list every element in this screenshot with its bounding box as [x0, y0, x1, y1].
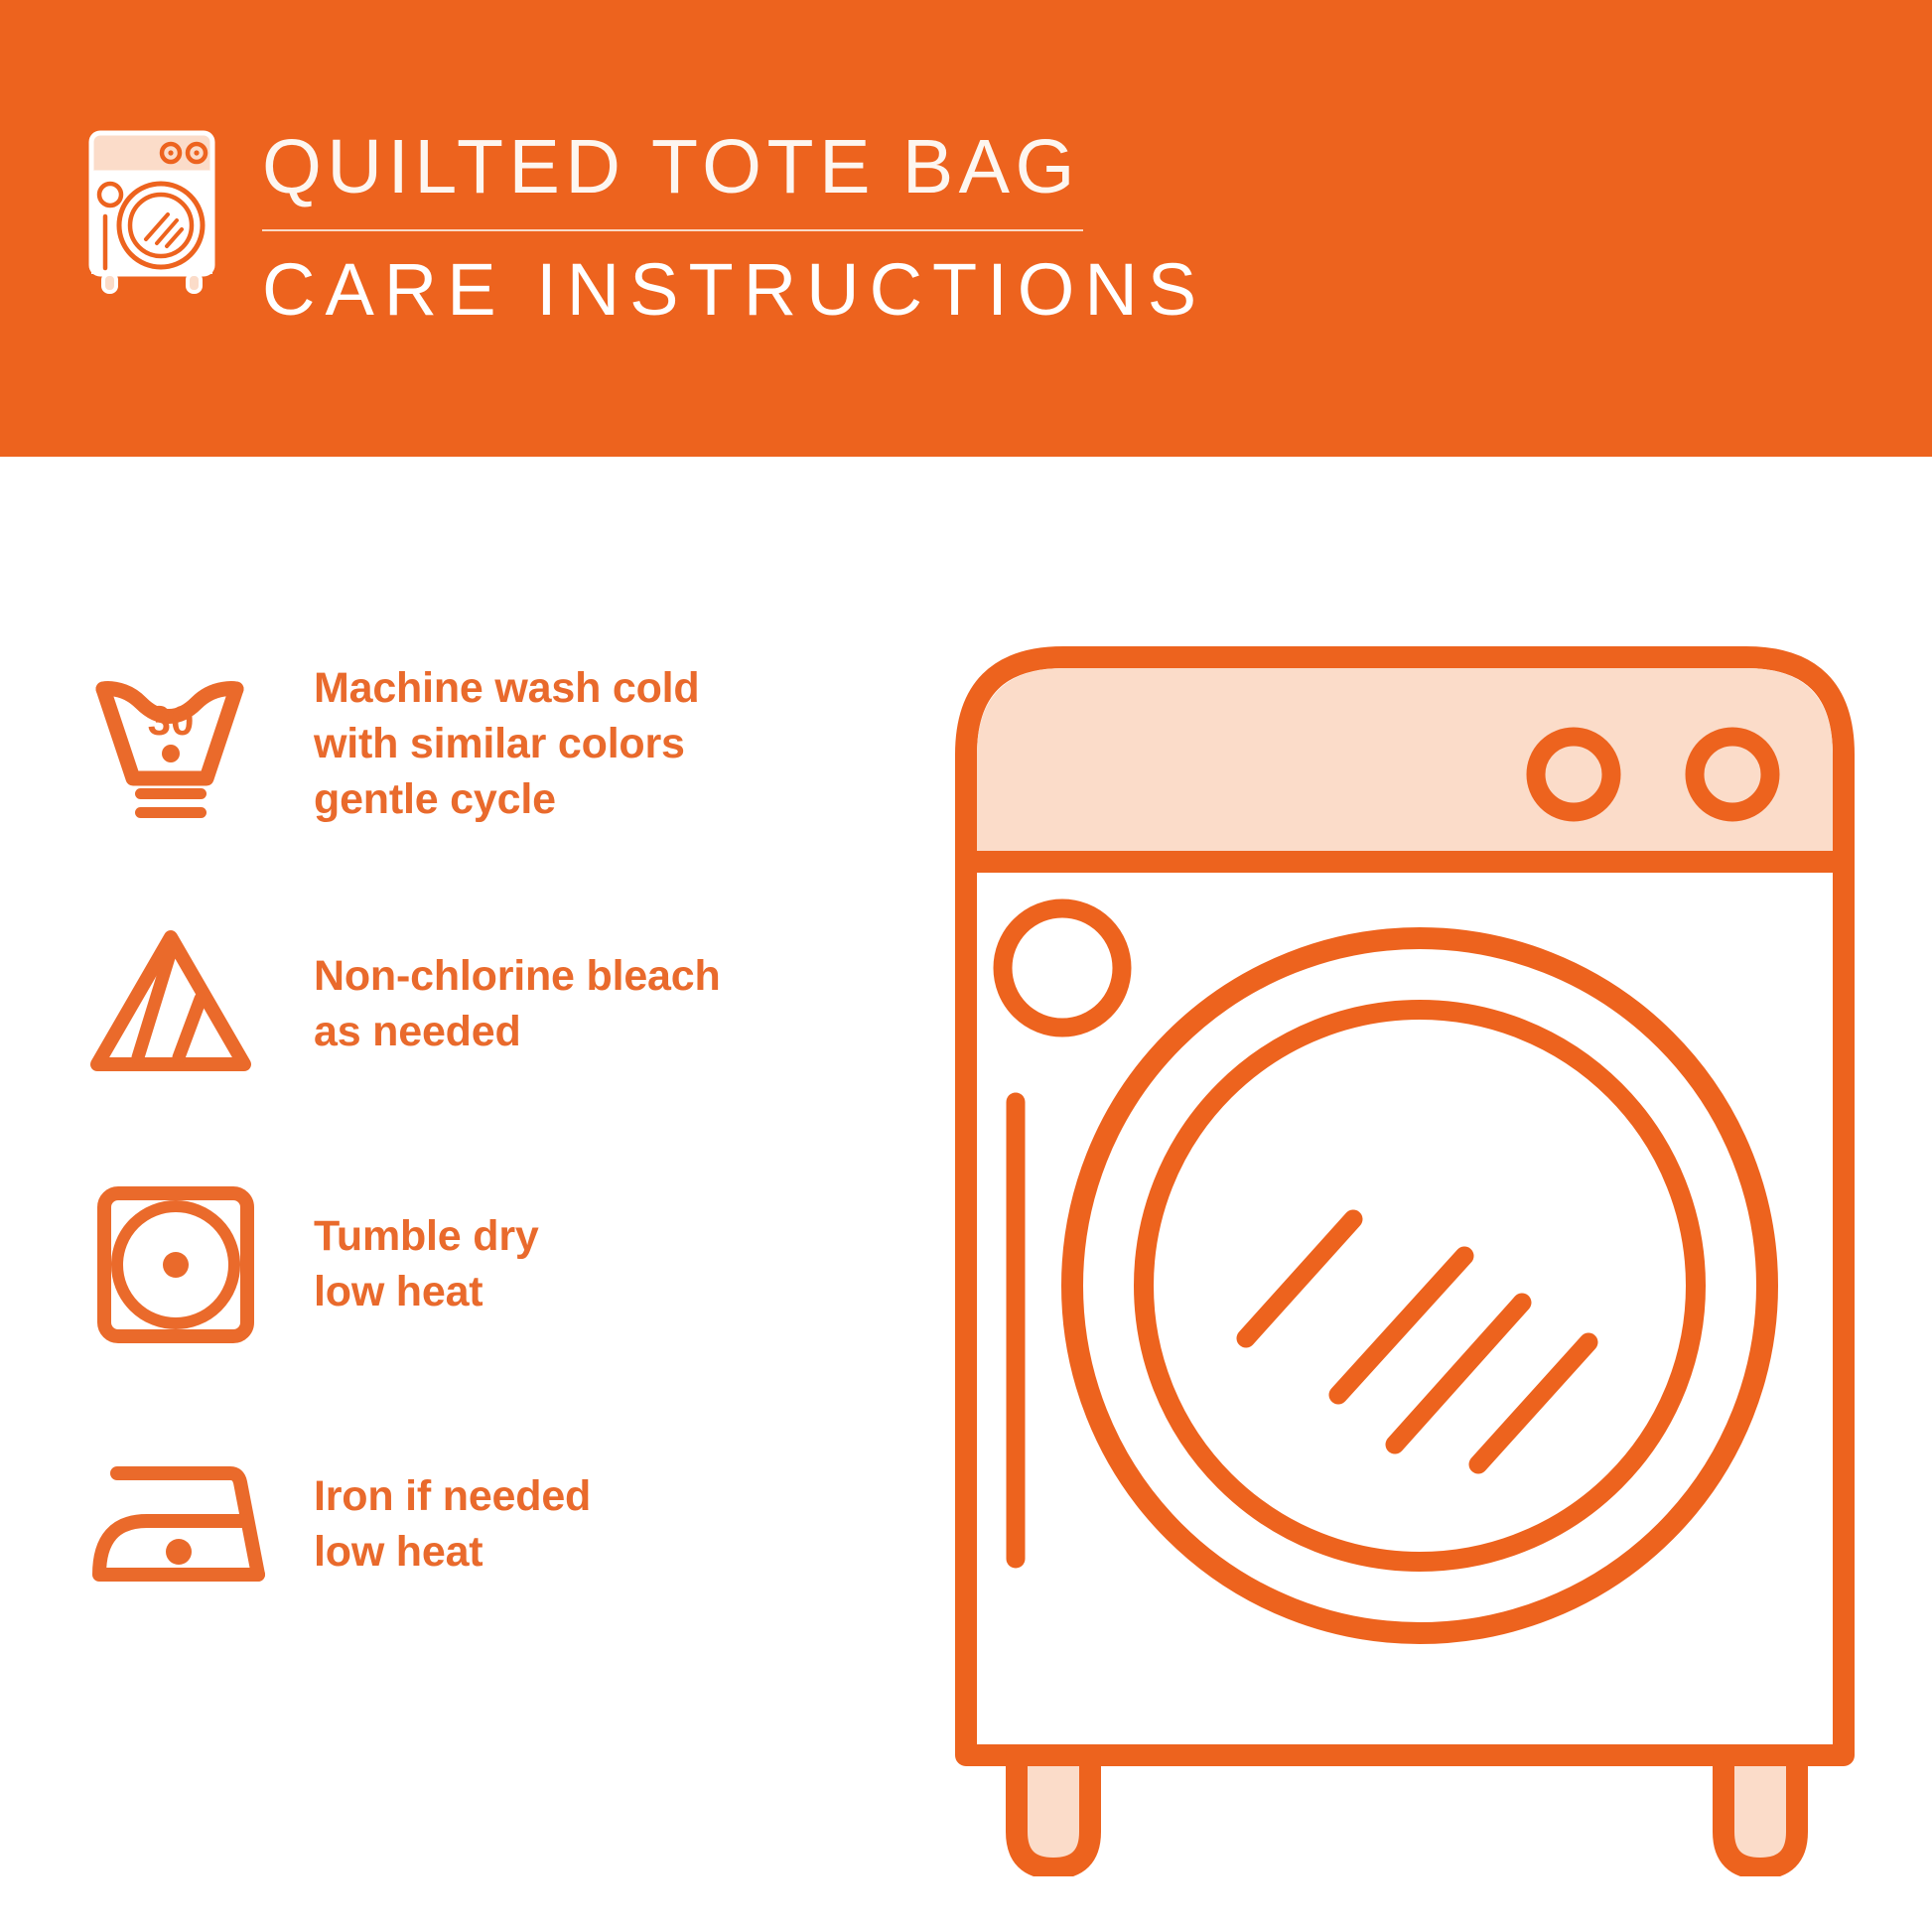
label-line: gentle cycle — [314, 772, 699, 828]
instruction-item: 30 Machine wash cold with similar colors… — [79, 655, 903, 834]
leg-right — [1724, 1755, 1797, 1868]
label-line: Machine wash cold — [314, 661, 699, 717]
label-line: Tumble dry — [314, 1209, 539, 1265]
header-titles: QUILTED TOTE BAG CARE INSTRUCTIONS — [262, 127, 1206, 327]
knob-left[interactable] — [1536, 737, 1611, 812]
washing-machine-illustration — [948, 635, 1862, 1876]
washtub-30-gentle-icon: 30 — [79, 655, 278, 834]
label-line: with similar colors — [314, 717, 699, 772]
title-divider — [262, 229, 1083, 231]
label-line: low heat — [314, 1265, 539, 1320]
instruction-label: Tumble dry low heat — [314, 1209, 539, 1320]
tumble-dry-low-heat-icon — [79, 1175, 278, 1354]
wash-temperature-value: 30 — [148, 697, 195, 744]
page-title: QUILTED TOTE BAG — [262, 129, 1206, 206]
header-content: QUILTED TOTE BAG CARE INSTRUCTIONS — [77, 127, 1206, 327]
instruction-item: Non-chlorine bleach as needed — [79, 915, 903, 1094]
label-line: low heat — [314, 1525, 591, 1581]
page-subtitle: CARE INSTRUCTIONS — [262, 253, 1206, 327]
label-line: as needed — [314, 1005, 721, 1060]
header-banner: QUILTED TOTE BAG CARE INSTRUCTIONS — [0, 0, 1932, 457]
instruction-label: Iron if needed low heat — [314, 1469, 591, 1581]
leg-left — [1017, 1755, 1090, 1868]
label-line: Iron if needed — [314, 1469, 591, 1525]
washing-machine-icon — [77, 127, 226, 294]
label-line: Non-chlorine bleach — [314, 949, 721, 1005]
care-instructions-infographic: QUILTED TOTE BAG CARE INSTRUCTIONS 30 — [0, 0, 1932, 1932]
non-chlorine-bleach-triangle-icon — [79, 915, 278, 1094]
instruction-item: Iron if needed low heat — [79, 1436, 903, 1614]
instruction-label: Machine wash cold with similar colors ge… — [314, 661, 699, 828]
knob-right[interactable] — [1695, 737, 1770, 812]
instruction-label: Non-chlorine bleach as needed — [314, 949, 721, 1060]
iron-low-heat-icon — [79, 1436, 278, 1614]
instruction-item: Tumble dry low heat — [79, 1175, 903, 1354]
